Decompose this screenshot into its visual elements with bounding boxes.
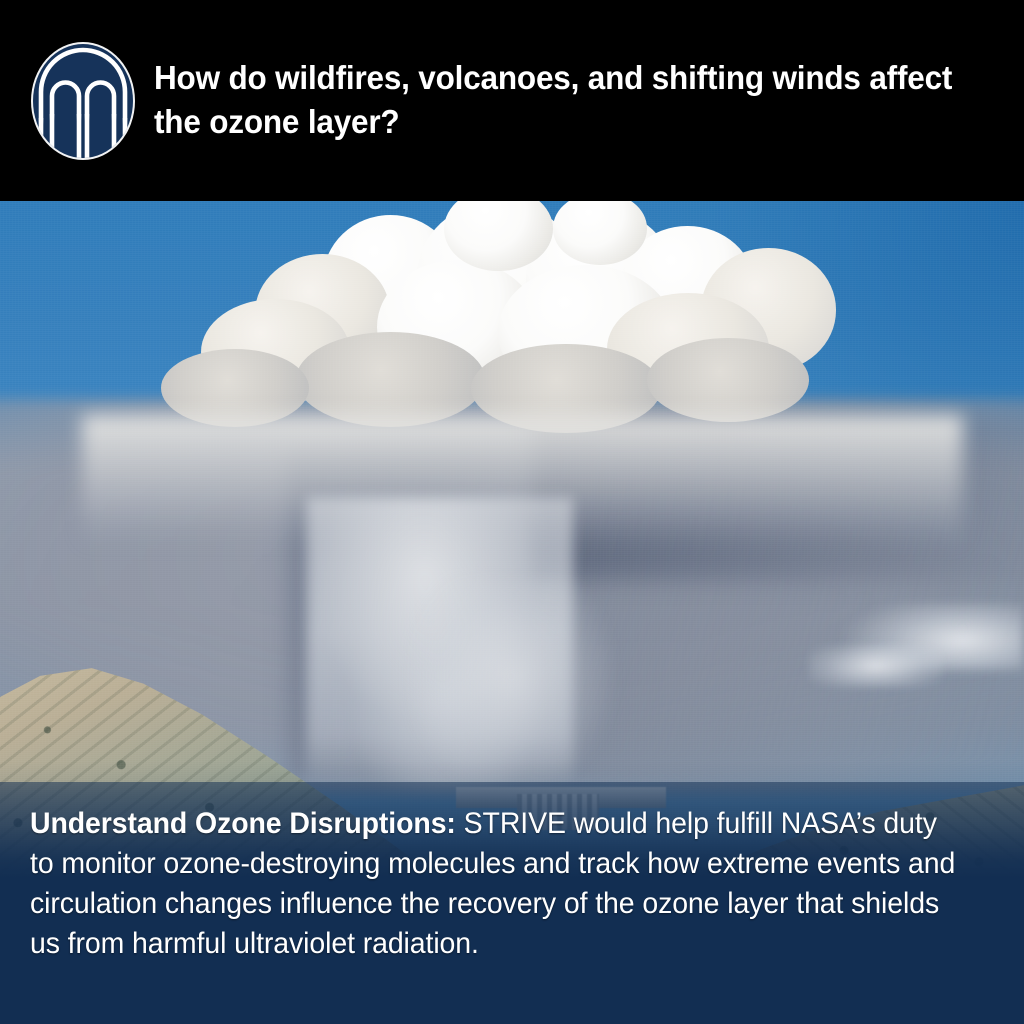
nasa-goddard-arch-logo-icon: [28, 40, 138, 162]
page-title: How do wildfires, volcanoes, and shiftin…: [154, 57, 962, 144]
caption-overlay: Understand Ozone Disruptions: STRIVE wou…: [0, 782, 1024, 1024]
caption-lead-label: Understand Ozone Disruptions:: [30, 807, 456, 840]
header-band: How do wildfires, volcanoes, and shiftin…: [0, 0, 1024, 201]
poster-root: How do wildfires, volcanoes, and shiftin…: [0, 0, 1024, 1024]
distant-cloud-right-2: [809, 645, 942, 686]
logo: [28, 40, 138, 162]
caption-text: Understand Ozone Disruptions: STRIVE wou…: [30, 804, 960, 964]
